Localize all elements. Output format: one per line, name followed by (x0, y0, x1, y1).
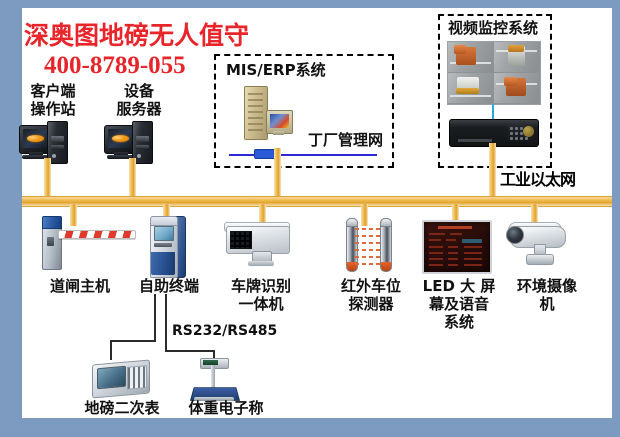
serial-wire-scale-horizontal (165, 350, 215, 352)
industrial-ethernet-bus (22, 196, 612, 207)
kiosk-terminal-label: 自助终端 (126, 278, 212, 294)
uplink-video-surveillance (489, 143, 496, 198)
weighing-indicator-label: 地磅二次表 (70, 400, 174, 416)
device-server-label-line1: 设备 (100, 83, 178, 99)
video-surveillance-group-title: 视频监控系统 (438, 20, 548, 36)
phone-number: 400-8789-055 (44, 52, 186, 79)
environment-camera-label-line1: 环境摄像 (504, 278, 590, 294)
video-wall-to-dvr-link (492, 104, 494, 119)
network-connector-icon (254, 149, 276, 159)
serial-wire-indicator-horizontal (110, 340, 156, 342)
diagram-canvas: 深奥图地磅无人值守 400-8789-055 客户端 操作站 设备 服务器 MI… (0, 0, 620, 437)
infrared-detector-label-line1: 红外车位 (326, 278, 416, 294)
quad-video-wall-icon (447, 41, 541, 105)
serial-wire-left-trunk (154, 294, 156, 341)
factory-lan-line (229, 154, 377, 156)
device-server-label-line2: 服务器 (100, 101, 178, 117)
uplink-device-server (129, 158, 136, 198)
barrier-gate-label: 道闸主机 (28, 278, 132, 294)
bullet-camera-icon (504, 222, 574, 268)
server-rack-icon (244, 86, 296, 140)
environment-camera-label-line2: 机 (504, 296, 590, 312)
weighing-indicator-icon (92, 356, 152, 400)
led-display-label-line2: 幕及语音 (416, 296, 502, 312)
box-camera-icon (218, 220, 300, 270)
platform-scale-label: 体重电子称 (174, 400, 278, 416)
industrial-ethernet-label: 工业以太网 (500, 171, 575, 188)
infrared-detector-icon (344, 218, 402, 274)
serial-link-label: RS232/RS485 (172, 324, 277, 339)
serial-wire-right-trunk (165, 294, 167, 352)
platform-scale-icon (192, 356, 240, 404)
mis-erp-group-title: MIS/ERP系统 (226, 62, 326, 78)
diagram-page: 深奥图地磅无人值守 400-8789-055 客户端 操作站 设备 服务器 MI… (22, 8, 612, 418)
page-title: 深奥图地磅无人值守 (24, 22, 249, 49)
kiosk-terminal-icon (148, 212, 190, 278)
client-workstation-label-line1: 客户端 (14, 83, 92, 99)
uplink-client-workstation (44, 158, 51, 198)
led-display-label-line3: 系统 (416, 314, 502, 330)
led-display-label-line1: LED 大 屏 (416, 278, 502, 294)
lpr-camera-label-line2: 一体机 (218, 296, 304, 312)
uplink-mis-erp (274, 148, 281, 198)
infrared-detector-label-line2: 探测器 (326, 296, 416, 312)
barrier-gate-icon (42, 216, 137, 274)
client-workstation-label-line2: 操作站 (14, 101, 92, 117)
lpr-camera-label-line1: 车牌识别 (218, 278, 304, 294)
mis-erp-sub-label: 丁厂管理网 (308, 132, 383, 148)
led-board-icon (422, 220, 492, 274)
